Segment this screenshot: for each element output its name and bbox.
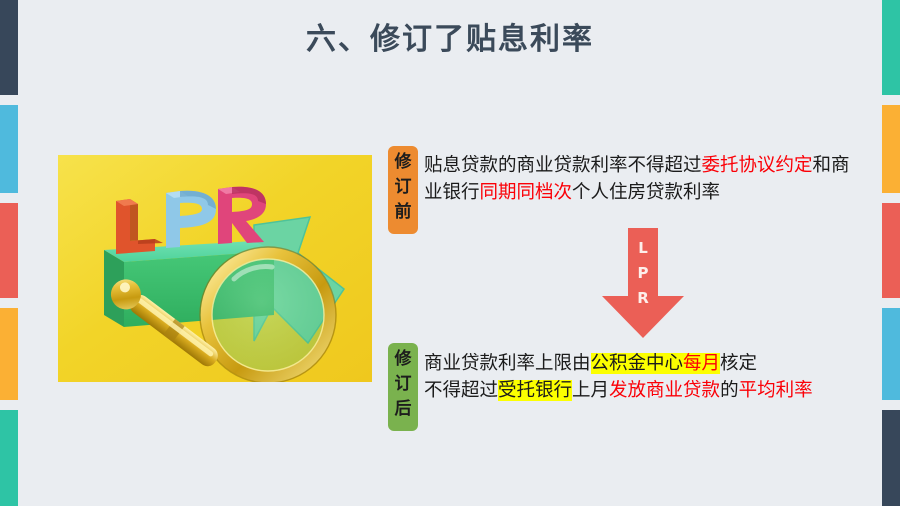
- badge-before-char-3: 前: [388, 200, 418, 225]
- left-bar-teal: [0, 410, 18, 506]
- slide-canvas: 六、修订了贴息利率: [0, 0, 900, 506]
- after-l1-seg-4: 核定: [720, 353, 757, 374]
- page-title: 六、修订了贴息利率: [0, 14, 900, 58]
- right-bar-orange: [882, 105, 900, 193]
- right-bar-red: [882, 203, 900, 298]
- badge-after-char-3: 后: [388, 397, 418, 422]
- left-bar-red: [0, 203, 18, 298]
- after-l2-seg-1: 不得超过: [424, 380, 498, 401]
- right-bar-blue: [882, 308, 900, 400]
- lpr-photo: [58, 155, 372, 382]
- badge-after-revision: 修 订 后: [388, 343, 418, 431]
- badge-after-char-2: 订: [388, 372, 418, 397]
- after-l1-seg-3: 每月: [683, 353, 720, 374]
- after-revision-text: 商业贷款利率上限由公积金中心每月核定 不得超过受托银行上月发放商业贷款的平均利率: [424, 350, 813, 404]
- badge-after-char-1: 修: [388, 347, 418, 372]
- after-l1-seg-2: 公积金中心: [591, 353, 684, 374]
- badge-before-revision: 修 订 前: [388, 146, 418, 234]
- after-l2-seg-4: 发放商业贷款: [609, 380, 720, 401]
- before-revision-text: 贴息贷款的商业贷款利率不得超过委托协议约定和商 业银行同期同档次个人住房贷款利率: [424, 152, 850, 206]
- left-bar-blue: [0, 105, 18, 193]
- lpr-down-arrow: [588, 228, 698, 340]
- before-l2-seg-3: 个人住房贷款利率: [572, 182, 720, 203]
- after-l2-seg-2: 受托银行: [498, 380, 572, 401]
- after-l2-seg-5: 的: [720, 380, 739, 401]
- before-l1-seg-3: 和商: [813, 155, 850, 176]
- lpr-photo-graphic: [58, 155, 372, 382]
- after-l2-seg-3: 上月: [572, 380, 609, 401]
- before-l2-seg-1: 业银行: [424, 182, 480, 203]
- before-l1-seg-1: 贴息贷款的商业贷款利率不得超过: [424, 155, 702, 176]
- badge-before-char-2: 订: [388, 175, 418, 200]
- after-l1-seg-1: 商业贷款利率上限由: [424, 353, 591, 374]
- after-line-1: 商业贷款利率上限由公积金中心每月核定: [424, 350, 813, 377]
- before-line-1: 贴息贷款的商业贷款利率不得超过委托协议约定和商: [424, 152, 850, 179]
- after-l2-seg-6: 平均利率: [739, 380, 813, 401]
- before-l2-seg-2: 同期同档次: [480, 182, 573, 203]
- before-l1-seg-2: 委托协议约定: [702, 155, 813, 176]
- right-bar-slate: [882, 410, 900, 506]
- before-line-2: 业银行同期同档次个人住房贷款利率: [424, 179, 850, 206]
- left-bar-orange: [0, 308, 18, 400]
- after-line-2: 不得超过受托银行上月发放商业贷款的平均利率: [424, 377, 813, 404]
- badge-before-char-1: 修: [388, 150, 418, 175]
